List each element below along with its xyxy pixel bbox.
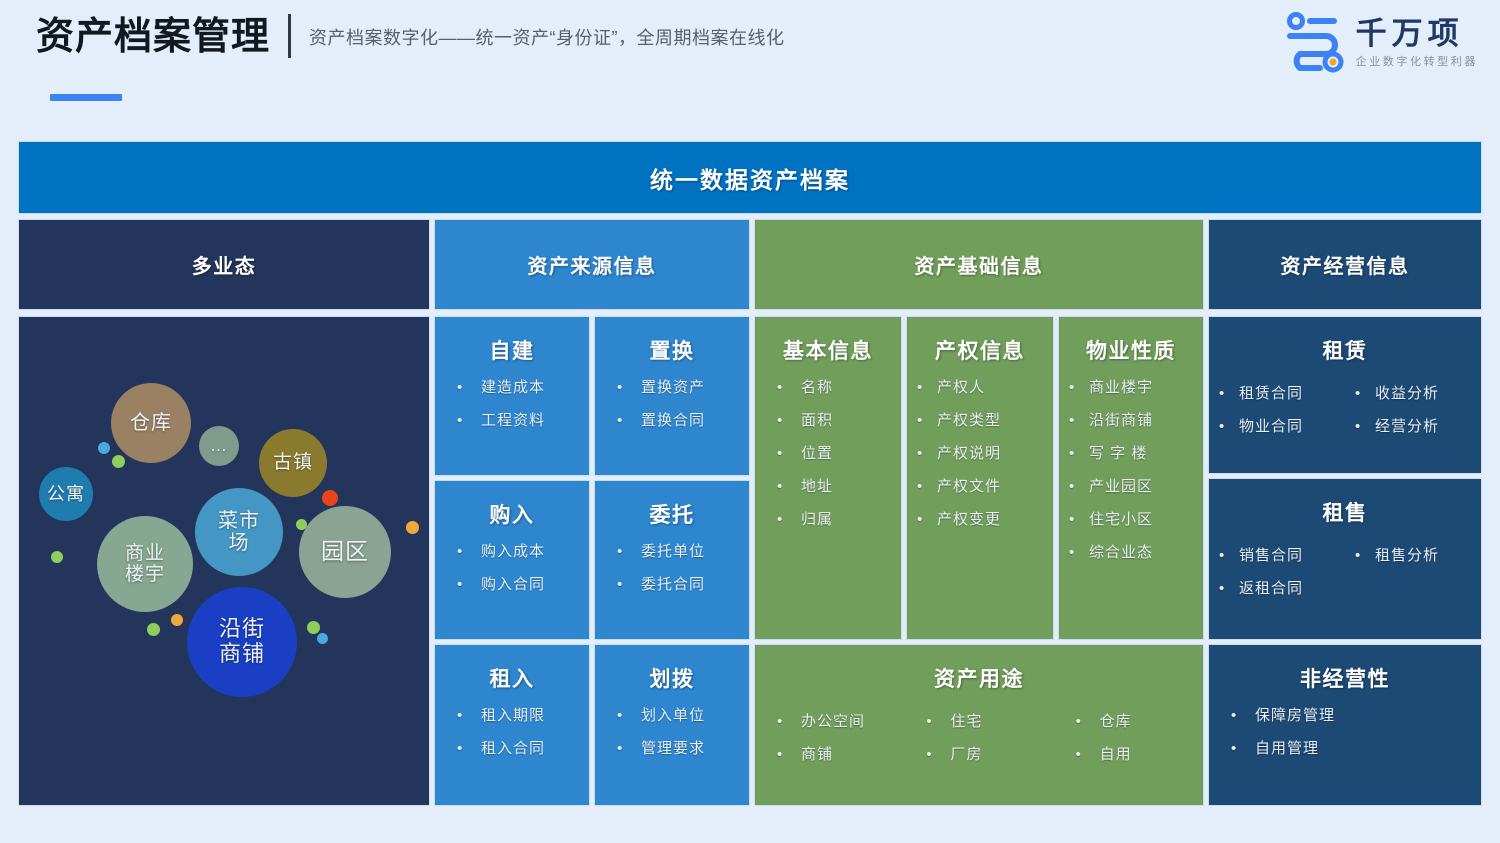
list-item[interactable]: 住宅小区 xyxy=(1059,503,1203,536)
list-item[interactable]: 产权类型 xyxy=(907,404,1053,437)
operation-card-zulin[interactable]: 租赁 租赁合同 物业合同 收益分析 经营分析 xyxy=(1208,316,1482,474)
bubble-accent-dot xyxy=(406,521,419,534)
brand-mark-icon xyxy=(1280,12,1346,74)
list-item[interactable]: 租入合同 xyxy=(435,732,589,765)
brand-tagline: 企业数字化转型利器 xyxy=(1356,54,1478,70)
list-item[interactable]: 物业合同 xyxy=(1209,410,1345,443)
card-title: 自建 xyxy=(435,335,589,365)
list-item[interactable]: 自用 xyxy=(1054,738,1203,771)
column-header-label: 资产基础信息 xyxy=(915,250,1044,279)
card-title: 非经营性 xyxy=(1209,663,1481,693)
list-item[interactable]: 综合业态 xyxy=(1059,536,1203,569)
bubble-7[interactable]: 沿街商铺 xyxy=(187,587,297,697)
bubble-label: 古镇 xyxy=(273,452,313,473)
bubble-label: 菜市场 xyxy=(217,510,261,555)
bubble-accent-dot xyxy=(322,490,338,506)
operation-card-zushou[interactable]: 租售 销售合同 返租合同 租售分析 xyxy=(1208,478,1482,640)
card-item-list: 产权人 产权类型 产权说明 产权文件 产权变更 xyxy=(907,371,1053,536)
card-item-list: 名称 面积 位置 地址 归属 xyxy=(755,371,901,536)
brand-text: 千万项 企业数字化转型利器 xyxy=(1356,16,1478,70)
list-item[interactable]: 自用管理 xyxy=(1209,732,1481,765)
operation-columns: 销售合同 返租合同 租售分析 xyxy=(1209,533,1481,605)
card-title: 租赁 xyxy=(1209,335,1481,365)
list-item[interactable]: 厂房 xyxy=(904,738,1053,771)
bubble-label: 商业楼宇 xyxy=(124,543,166,586)
diagram-banner-label: 统一数据资产档案 xyxy=(650,161,850,195)
list-item[interactable]: 仓库 xyxy=(1054,705,1203,738)
basic-card-chanquanxinxi[interactable]: 产权信息 产权人 产权类型 产权说明 产权文件 产权变更 xyxy=(906,316,1054,640)
column-header-label: 资产来源信息 xyxy=(528,250,657,279)
bubble-accent-dot xyxy=(112,455,125,468)
card-item-list: 商业楼宇 沿街商铺 写 字 楼 产业园区 住宅小区 综合业态 xyxy=(1059,371,1203,569)
list-item[interactable]: 归属 xyxy=(755,503,901,536)
card-title: 资产用途 xyxy=(755,663,1203,693)
usage-columns: 办公空间 商铺 住宅 厂房 仓库 自用 xyxy=(755,699,1203,771)
card-item-list: 仓库 自用 xyxy=(1054,705,1203,771)
card-item-list: 住宅 厂房 xyxy=(904,705,1053,771)
page-subtitle: 资产档案数字化——统一资产“身份证”，全周期档案在线化 xyxy=(309,16,785,60)
list-item[interactable]: 工程资料 xyxy=(435,404,589,437)
list-item[interactable]: 建造成本 xyxy=(435,371,589,404)
list-item[interactable]: 租入期限 xyxy=(435,699,589,732)
usage-card-zichanyongtu[interactable]: 资产用途 办公空间 商铺 住宅 厂房 仓库 自用 xyxy=(754,644,1204,806)
source-card-zuru[interactable]: 租入 租入期限 租入合同 xyxy=(434,644,590,806)
list-item[interactable]: 面积 xyxy=(755,404,901,437)
bubble-accent-dot xyxy=(51,551,63,563)
source-card-zhihuan[interactable]: 置换 置换资产 置换合同 xyxy=(594,316,750,476)
card-item-list: 租赁合同 物业合同 xyxy=(1209,377,1345,443)
list-item[interactable]: 置换资产 xyxy=(595,371,749,404)
architecture-diagram: 统一数据资产档案 多业态 资产来源信息 资产基础信息 资产经营信息 仓库…古镇公… xyxy=(18,141,1482,811)
bubble-6[interactable]: 园区 xyxy=(299,506,391,598)
list-item[interactable]: 经营分析 xyxy=(1345,410,1481,443)
list-item[interactable]: 位置 xyxy=(755,437,901,470)
column-header-duoyetai[interactable]: 多业态 xyxy=(18,219,430,310)
card-item-list: 租售分析 xyxy=(1345,539,1481,605)
list-item[interactable]: 产业园区 xyxy=(1059,470,1203,503)
list-item[interactable]: 写 字 楼 xyxy=(1059,437,1203,470)
card-item-list: 委托单位 委托合同 xyxy=(595,535,749,601)
card-item-list: 收益分析 经营分析 xyxy=(1345,377,1481,443)
list-item[interactable]: 划入单位 xyxy=(595,699,749,732)
list-item[interactable]: 管理要求 xyxy=(595,732,749,765)
bubble-label: 仓库 xyxy=(130,412,172,434)
list-item[interactable]: 产权文件 xyxy=(907,470,1053,503)
bubble-0[interactable]: 仓库 xyxy=(111,383,191,463)
column-header-source[interactable]: 资产来源信息 xyxy=(434,219,750,310)
card-item-list: 租入期限 租入合同 xyxy=(435,699,589,765)
list-item[interactable]: 产权人 xyxy=(907,371,1053,404)
bubble-accent-dot xyxy=(147,623,160,636)
source-card-zijian[interactable]: 自建 建造成本 工程资料 xyxy=(434,316,590,476)
bubble-5[interactable]: 商业楼宇 xyxy=(97,516,193,612)
card-item-list: 建造成本 工程资料 xyxy=(435,371,589,437)
title-accent-underline xyxy=(50,94,122,101)
list-item[interactable]: 办公空间 xyxy=(755,705,904,738)
bubble-2[interactable]: 古镇 xyxy=(259,429,327,497)
brand-name: 千万项 xyxy=(1356,16,1478,52)
bubble-accent-dot xyxy=(307,621,320,634)
list-item[interactable]: 购入合同 xyxy=(435,568,589,601)
card-item-list: 划入单位 管理要求 xyxy=(595,699,749,765)
list-item[interactable]: 沿街商铺 xyxy=(1059,404,1203,437)
diagram-body: 仓库…古镇公寓菜市场商业楼宇园区沿街商铺 自建 建造成本 工程资料 置换 置换资… xyxy=(18,316,1482,811)
list-item[interactable]: 委托单位 xyxy=(595,535,749,568)
slide-root: 资产档案管理 资产档案数字化——统一资产“身份证”，全周期档案在线化 千万项 企… xyxy=(0,0,1500,843)
bubble-label: 沿街商铺 xyxy=(218,617,266,666)
title-divider xyxy=(288,14,291,58)
basic-card-wuyexingzhi[interactable]: 物业性质 商业楼宇 沿街商铺 写 字 楼 产业园区 住宅小区 综合业态 xyxy=(1058,316,1204,640)
brand-logo: 千万项 企业数字化转型利器 xyxy=(1280,12,1478,74)
list-item[interactable]: 产权说明 xyxy=(907,437,1053,470)
list-item[interactable]: 商铺 xyxy=(755,738,904,771)
bubble-label: 公寓 xyxy=(47,484,85,504)
card-title: 租售 xyxy=(1209,497,1481,527)
operation-card-feijingyingxing[interactable]: 非经营性 保障房管理 自用管理 xyxy=(1208,644,1482,806)
bubble-4[interactable]: 菜市场 xyxy=(195,488,283,576)
list-item[interactable]: 委托合同 xyxy=(595,568,749,601)
bubble-accent-dot xyxy=(317,633,328,644)
list-item[interactable]: 保障房管理 xyxy=(1209,699,1481,732)
column-header-operation[interactable]: 资产经营信息 xyxy=(1208,219,1482,310)
source-card-weituo[interactable]: 委托 委托单位 委托合同 xyxy=(594,480,750,640)
source-card-huabo[interactable]: 划拨 划入单位 管理要求 xyxy=(594,644,750,806)
list-item[interactable]: 产权变更 xyxy=(907,503,1053,536)
list-item[interactable]: 地址 xyxy=(755,470,901,503)
card-title: 产权信息 xyxy=(907,335,1053,365)
card-title: 租入 xyxy=(435,663,589,693)
list-item[interactable]: 置换合同 xyxy=(595,404,749,437)
basic-card-jibenxinxi[interactable]: 基本信息 名称 面积 位置 地址 归属 xyxy=(754,316,902,640)
list-item[interactable]: 租赁合同 xyxy=(1209,377,1345,410)
column-header-row: 多业态 资产来源信息 资产基础信息 资产经营信息 xyxy=(18,219,1482,310)
bubble-label: 园区 xyxy=(321,539,369,565)
list-item[interactable]: 租售分析 xyxy=(1345,539,1481,572)
list-item[interactable]: 商业楼宇 xyxy=(1059,371,1203,404)
bubble-accent-dot xyxy=(98,442,110,454)
card-item-list: 保障房管理 自用管理 xyxy=(1209,699,1481,765)
bubble-1[interactable]: … xyxy=(199,426,239,466)
card-item-list: 购入成本 购入合同 xyxy=(435,535,589,601)
list-item[interactable]: 收益分析 xyxy=(1345,377,1481,410)
list-item[interactable]: 销售合同 xyxy=(1209,539,1345,572)
card-title: 委托 xyxy=(595,499,749,529)
page-title: 资产档案管理 xyxy=(36,14,270,60)
list-item[interactable]: 购入成本 xyxy=(435,535,589,568)
list-item[interactable]: 名称 xyxy=(755,371,901,404)
card-title: 基本信息 xyxy=(755,335,901,365)
list-item[interactable]: 住宅 xyxy=(904,705,1053,738)
card-title: 划拨 xyxy=(595,663,749,693)
bubble-label: … xyxy=(210,436,228,455)
card-title: 置换 xyxy=(595,335,749,365)
card-title: 物业性质 xyxy=(1059,335,1203,365)
bubble-accent-dot xyxy=(171,614,183,626)
card-item-list: 置换资产 置换合同 xyxy=(595,371,749,437)
diagram-banner: 统一数据资产档案 xyxy=(18,141,1482,214)
card-item-list: 销售合同 返租合同 xyxy=(1209,539,1345,605)
operation-columns: 租赁合同 物业合同 收益分析 经营分析 xyxy=(1209,371,1481,443)
page-header: 资产档案管理 资产档案数字化——统一资产“身份证”，全周期档案在线化 千万项 企… xyxy=(0,0,1500,120)
card-title: 购入 xyxy=(435,499,589,529)
column-header-label: 多业态 xyxy=(192,250,257,279)
list-item[interactable]: 返租合同 xyxy=(1209,572,1345,605)
source-card-gouru[interactable]: 购入 购入成本 购入合同 xyxy=(434,480,590,640)
bubble-3[interactable]: 公寓 xyxy=(39,467,93,521)
card-item-list: 办公空间 商铺 xyxy=(755,705,904,771)
column-header-label: 资产经营信息 xyxy=(1281,250,1410,279)
business-format-bubble-chart: 仓库…古镇公寓菜市场商业楼宇园区沿街商铺 xyxy=(18,316,430,806)
title-block: 资产档案管理 资产档案数字化——统一资产“身份证”，全周期档案在线化 xyxy=(36,14,785,60)
column-header-basic[interactable]: 资产基础信息 xyxy=(754,219,1204,310)
